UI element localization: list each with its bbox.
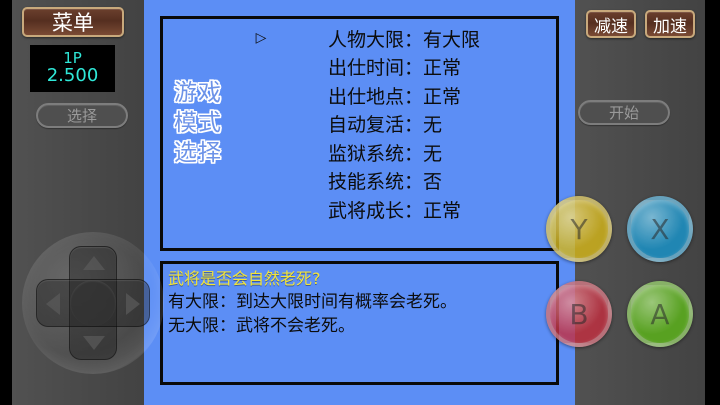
option-colon: ：: [404, 139, 423, 166]
dpad-hub: [70, 280, 116, 326]
option-value[interactable]: 有大限: [423, 25, 550, 52]
option-row-0[interactable]: ▷ 人物大限 ： 有大限: [250, 24, 550, 53]
description-line-2: 无大限：武将不会老死。: [168, 314, 548, 338]
option-colon: ：: [404, 53, 423, 80]
mode-title-line-1: 游戏: [174, 78, 222, 108]
option-value[interactable]: 无: [423, 139, 550, 166]
option-colon: ：: [404, 25, 423, 52]
option-value[interactable]: 正常: [423, 196, 550, 223]
option-row-4[interactable]: ▷ 监狱系统 ： 无: [250, 138, 550, 167]
description-text: 武将是否会自然老死? 有大限：到达大限时间有概率会老死。 无大限：武将不会老死。: [168, 268, 548, 338]
score-value: 2.500: [47, 67, 99, 86]
slowdown-button[interactable]: 减速: [586, 10, 636, 38]
option-value[interactable]: 正常: [423, 82, 550, 109]
button-b[interactable]: B: [546, 281, 612, 347]
option-label: 技能系统: [272, 167, 404, 194]
option-label: 武将成长: [272, 196, 404, 223]
game-viewport: 游戏 模式 选择 ▷ 人物大限 ： 有大限 ▷ 出仕时间 ： 正常 ▷ 出仕地点…: [144, 0, 575, 405]
option-row-1[interactable]: ▷ 出仕时间 ： 正常: [250, 53, 550, 82]
option-value[interactable]: 否: [423, 167, 550, 194]
option-colon: ：: [404, 196, 423, 223]
option-value[interactable]: 正常: [423, 53, 550, 80]
dpad-right-icon[interactable]: [126, 293, 140, 315]
game-screen: 游戏 模式 选择 ▷ 人物大限 ： 有大限 ▷ 出仕时间 ： 正常 ▷ 出仕地点…: [0, 0, 720, 405]
mode-select-title: 游戏 模式 选择: [174, 78, 222, 168]
mode-title-line-3: 选择: [174, 138, 222, 168]
description-line-1: 有大限：到达大限时间有概率会老死。: [168, 290, 548, 314]
start-button[interactable]: 开始: [578, 100, 670, 125]
dpad-up-icon[interactable]: [83, 256, 105, 270]
option-value[interactable]: 无: [423, 110, 550, 137]
option-row-3[interactable]: ▷ 自动复活 ： 无: [250, 110, 550, 139]
option-row-6[interactable]: ▷ 武将成长 ： 正常: [250, 195, 550, 224]
option-label: 自动复活: [272, 110, 404, 137]
dpad-left-icon[interactable]: [46, 293, 60, 315]
option-colon: ：: [404, 110, 423, 137]
option-colon: ：: [404, 82, 423, 109]
score-display: 1P 2.500: [30, 45, 115, 92]
option-row-2[interactable]: ▷ 出仕地点 ： 正常: [250, 81, 550, 110]
option-label: 人物大限: [272, 25, 404, 52]
option-colon: ：: [404, 167, 423, 194]
button-x[interactable]: X: [627, 196, 693, 262]
menu-button[interactable]: 菜单: [22, 7, 124, 37]
button-a[interactable]: A: [627, 281, 693, 347]
speedup-button[interactable]: 加速: [645, 10, 695, 38]
option-row-5[interactable]: ▷ 技能系统 ： 否: [250, 167, 550, 196]
description-title: 武将是否会自然老死?: [168, 268, 548, 290]
button-y[interactable]: Y: [546, 196, 612, 262]
selection-cursor-icon: ▷: [250, 31, 272, 45]
select-button[interactable]: 选择: [36, 103, 128, 128]
options-list: ▷ 人物大限 ： 有大限 ▷ 出仕时间 ： 正常 ▷ 出仕地点 ： 正常 ▷ 自…: [250, 24, 550, 224]
dpad-down-icon[interactable]: [83, 336, 105, 350]
option-label: 出仕时间: [272, 53, 404, 80]
option-label: 监狱系统: [272, 139, 404, 166]
dpad[interactable]: [22, 232, 164, 374]
option-label: 出仕地点: [272, 82, 404, 109]
mode-title-line-2: 模式: [174, 108, 222, 138]
